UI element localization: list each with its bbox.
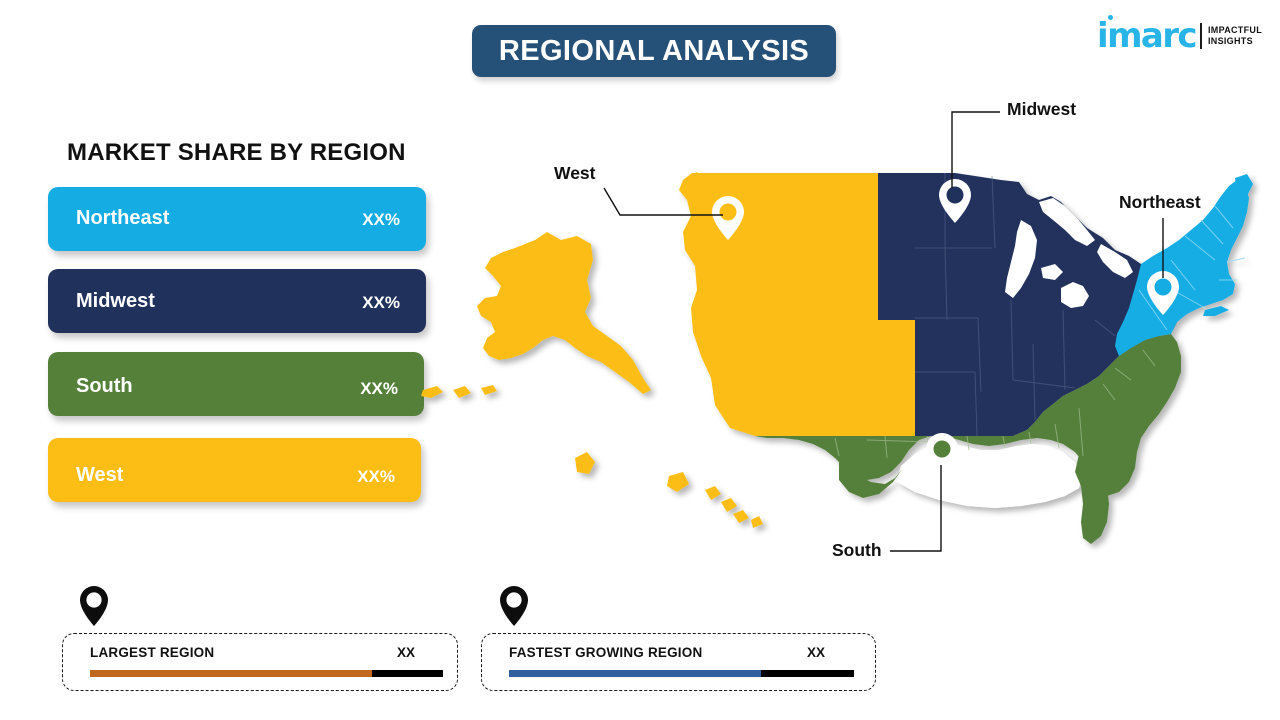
page-title-banner: REGIONAL ANALYSIS [472, 25, 836, 77]
fastest-region-progress-fill [509, 670, 761, 677]
logo-tagline-line2: INSIGHTS [1208, 36, 1262, 47]
share-bar-northeast[interactable]: Northeast XX% [48, 187, 426, 251]
page-title: REGIONAL ANALYSIS [499, 37, 809, 66]
logo-tagline-line1: IMPACTFUL [1208, 25, 1262, 36]
share-bar-label: West [76, 464, 123, 487]
largest-region-pin-icon [77, 585, 111, 627]
fastest-region-pin-icon [497, 585, 531, 627]
imarc-logo: imarc IMPACTFUL INSIGHTS [1097, 14, 1262, 58]
share-bar-value: XX% [362, 293, 400, 313]
largest-region-callout[interactable]: LARGEST REGION XX [62, 633, 458, 691]
market-share-heading: MARKET SHARE BY REGION [67, 139, 406, 167]
logo-divider [1200, 23, 1202, 49]
logo-wordmark: imarc [1097, 19, 1196, 53]
largest-region-label: LARGEST REGION [90, 645, 214, 660]
share-bar-midwest[interactable]: Midwest XX% [48, 269, 426, 333]
fastest-region-label: FASTEST GROWING REGION [509, 645, 702, 660]
logo-dot-icon [1108, 15, 1113, 20]
map-label-south: South [832, 540, 882, 561]
map-label-midwest: Midwest [1007, 99, 1076, 120]
share-bar-west[interactable]: West XX% [48, 438, 421, 502]
fastest-region-value: XX [807, 645, 825, 660]
share-bar-value: XX% [360, 379, 398, 399]
map-label-west: West [554, 163, 596, 184]
largest-region-progress-fill [90, 670, 372, 677]
map-label-northeast: Northeast [1119, 192, 1201, 213]
largest-region-progress-track [90, 670, 443, 677]
share-bar-value: XX% [357, 467, 395, 487]
largest-region-value: XX [397, 645, 415, 660]
share-bar-label: South [76, 375, 133, 398]
fastest-region-progress-track [509, 670, 854, 677]
infographic-canvas: REGIONAL ANALYSIS imarc IMPACTFUL INSIGH… [0, 0, 1280, 720]
share-bar-south[interactable]: South XX% [48, 352, 424, 416]
share-bar-label: Midwest [76, 290, 155, 313]
fastest-region-callout[interactable]: FASTEST GROWING REGION XX [481, 633, 876, 691]
share-bar-label: Northeast [76, 207, 169, 230]
logo-tagline: IMPACTFUL INSIGHTS [1208, 25, 1262, 48]
share-bar-value: XX% [362, 210, 400, 230]
